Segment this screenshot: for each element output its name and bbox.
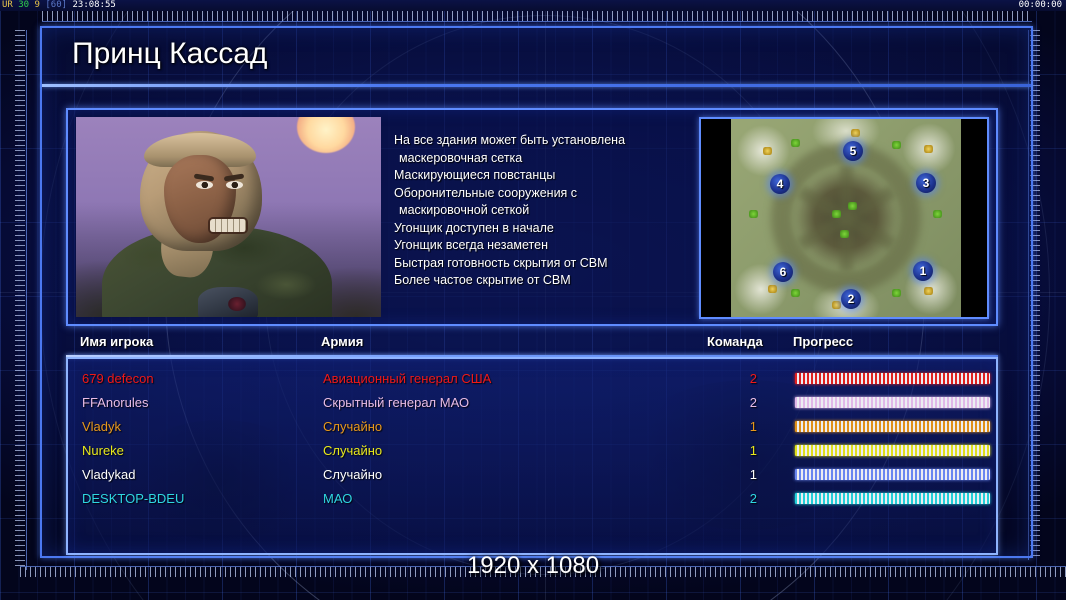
- portrait-mouth: [210, 219, 246, 232]
- status-bracket: [60]: [45, 0, 67, 10]
- status-timer: 23:08:55: [72, 0, 115, 10]
- top-status-bar: UR 30 9 [60] 23:08:55 00:00:00: [0, 0, 1066, 11]
- map-resource: [892, 141, 901, 149]
- status-value-1: 30: [18, 0, 29, 10]
- player-team: 2: [739, 487, 757, 511]
- map-resource: [791, 289, 800, 297]
- player-army: Случайно: [323, 463, 382, 487]
- table-row[interactable]: NurekeСлучайно1: [68, 439, 1000, 463]
- player-progress-bar: [795, 421, 990, 432]
- player-team: 1: [739, 463, 757, 487]
- player-team: 2: [739, 367, 757, 391]
- map-resource-gold: [832, 301, 841, 309]
- column-header-name: Имя игрока: [80, 334, 153, 349]
- title-divider: [42, 84, 1031, 87]
- table-row[interactable]: VladykСлучайно1: [68, 415, 1000, 439]
- status-value-2: 9: [35, 0, 40, 10]
- map-resource-gold: [924, 287, 933, 295]
- description-line: маскеровочная сетка: [394, 150, 712, 168]
- portrait-eye-left: [196, 181, 213, 189]
- frame-edge-top: [42, 21, 1032, 22]
- player-army: Случайно: [323, 439, 382, 463]
- player-progress-bar: [795, 469, 990, 480]
- map-resource: [832, 210, 841, 218]
- description-line: Угонщик всегда незаметен: [394, 237, 712, 255]
- session-clock: 00:00:00: [1019, 0, 1062, 11]
- map-resource-gold: [924, 145, 933, 153]
- map-resource: [892, 289, 901, 297]
- faction-description: На все здания может быть установлена мас…: [394, 132, 712, 290]
- player-name: Nureke: [82, 439, 124, 463]
- player-team: 1: [739, 439, 757, 463]
- resolution-label: 1920 x 1080: [0, 552, 1066, 580]
- player-progress-bar: [795, 445, 990, 456]
- map-start-position[interactable]: 5: [843, 141, 863, 161]
- player-army: Случайно: [323, 415, 382, 439]
- table-row[interactable]: VladykadСлучайно1: [68, 463, 1000, 487]
- portrait-weapon: [198, 287, 258, 317]
- page-title: Принц Кассад: [72, 37, 267, 71]
- map-start-position[interactable]: 6: [773, 262, 793, 282]
- portrait-eye-right: [226, 181, 243, 189]
- map-start-position[interactable]: 1: [913, 261, 933, 281]
- network-status-text: UR 30 9 [60] 23:08:55: [2, 0, 116, 11]
- map-resource: [933, 210, 942, 218]
- ruler-top: [42, 11, 1032, 21]
- player-army: Авиационный генерал США: [323, 367, 491, 391]
- map-resource: [848, 202, 857, 210]
- frame-edge-left: [26, 30, 27, 570]
- map-start-position[interactable]: 4: [770, 174, 790, 194]
- player-army: МАО: [323, 487, 352, 511]
- map-terrain: 543612: [731, 119, 961, 317]
- portrait-sun: [297, 117, 355, 153]
- title-bar: Принц Кассад: [42, 28, 1031, 84]
- player-name: FFAnorules: [82, 391, 148, 415]
- table-row[interactable]: FFAnorulesСкрытный генерал МАО2: [68, 391, 1000, 415]
- table-row[interactable]: 679 defeconАвиационный генерал США2: [68, 367, 1000, 391]
- player-name: 679 defecon: [82, 367, 154, 391]
- player-progress-bar: [795, 493, 990, 504]
- player-name: Vladykad: [82, 463, 135, 487]
- portrait-face: [164, 155, 236, 243]
- column-header-army: Армия: [321, 334, 363, 349]
- description-line: Маскирующиеся повстанцы: [394, 167, 712, 185]
- player-name: Vladyk: [82, 415, 121, 439]
- player-team: 1: [739, 415, 757, 439]
- player-name: DESKTOP-BDEU: [82, 487, 184, 511]
- portrait-head: [140, 131, 262, 259]
- description-line: Быстрая готовность скрытия от СВМ: [394, 255, 712, 273]
- faction-info-panel: На все здания может быть установлена мас…: [66, 108, 998, 326]
- map-resource-gold: [768, 285, 777, 293]
- description-line: Оборонительные сооружения с: [394, 185, 712, 203]
- player-progress-bar: [795, 397, 990, 408]
- map-resource-gold: [763, 147, 772, 155]
- ruler-left: [15, 30, 25, 570]
- column-header-progress: Прогресс: [793, 334, 853, 349]
- map-start-position[interactable]: 2: [841, 289, 861, 309]
- map-resource: [840, 230, 849, 238]
- map-preview: 543612: [699, 117, 989, 319]
- player-army: Скрытный генерал МАО: [323, 391, 469, 415]
- map-resource: [749, 210, 758, 218]
- table-row[interactable]: DESKTOP-BDEUМАО2: [68, 487, 1000, 511]
- column-header-team: Команда: [707, 334, 763, 349]
- map-resource-gold: [851, 129, 860, 137]
- player-progress-bar: [795, 373, 990, 384]
- game-lobby-screen: UR 30 9 [60] 23:08:55 00:00:00 Принц Кас…: [0, 0, 1066, 600]
- player-team: 2: [739, 391, 757, 415]
- description-line: На все здания может быть установлена: [394, 132, 712, 150]
- description-line: Более частое скрытие от СВМ: [394, 272, 712, 290]
- map-resource: [791, 139, 800, 147]
- general-portrait: [76, 117, 381, 317]
- player-table-header: Имя игрока Армия Команда Прогресс: [66, 334, 998, 358]
- status-prefix: UR: [2, 0, 13, 10]
- description-line: маскировочной сеткой: [394, 202, 712, 220]
- map-start-position[interactable]: 3: [916, 173, 936, 193]
- description-line: Угонщик доступен в начале: [394, 220, 712, 238]
- player-list-panel: 679 defeconАвиационный генерал США2FFAno…: [66, 357, 998, 555]
